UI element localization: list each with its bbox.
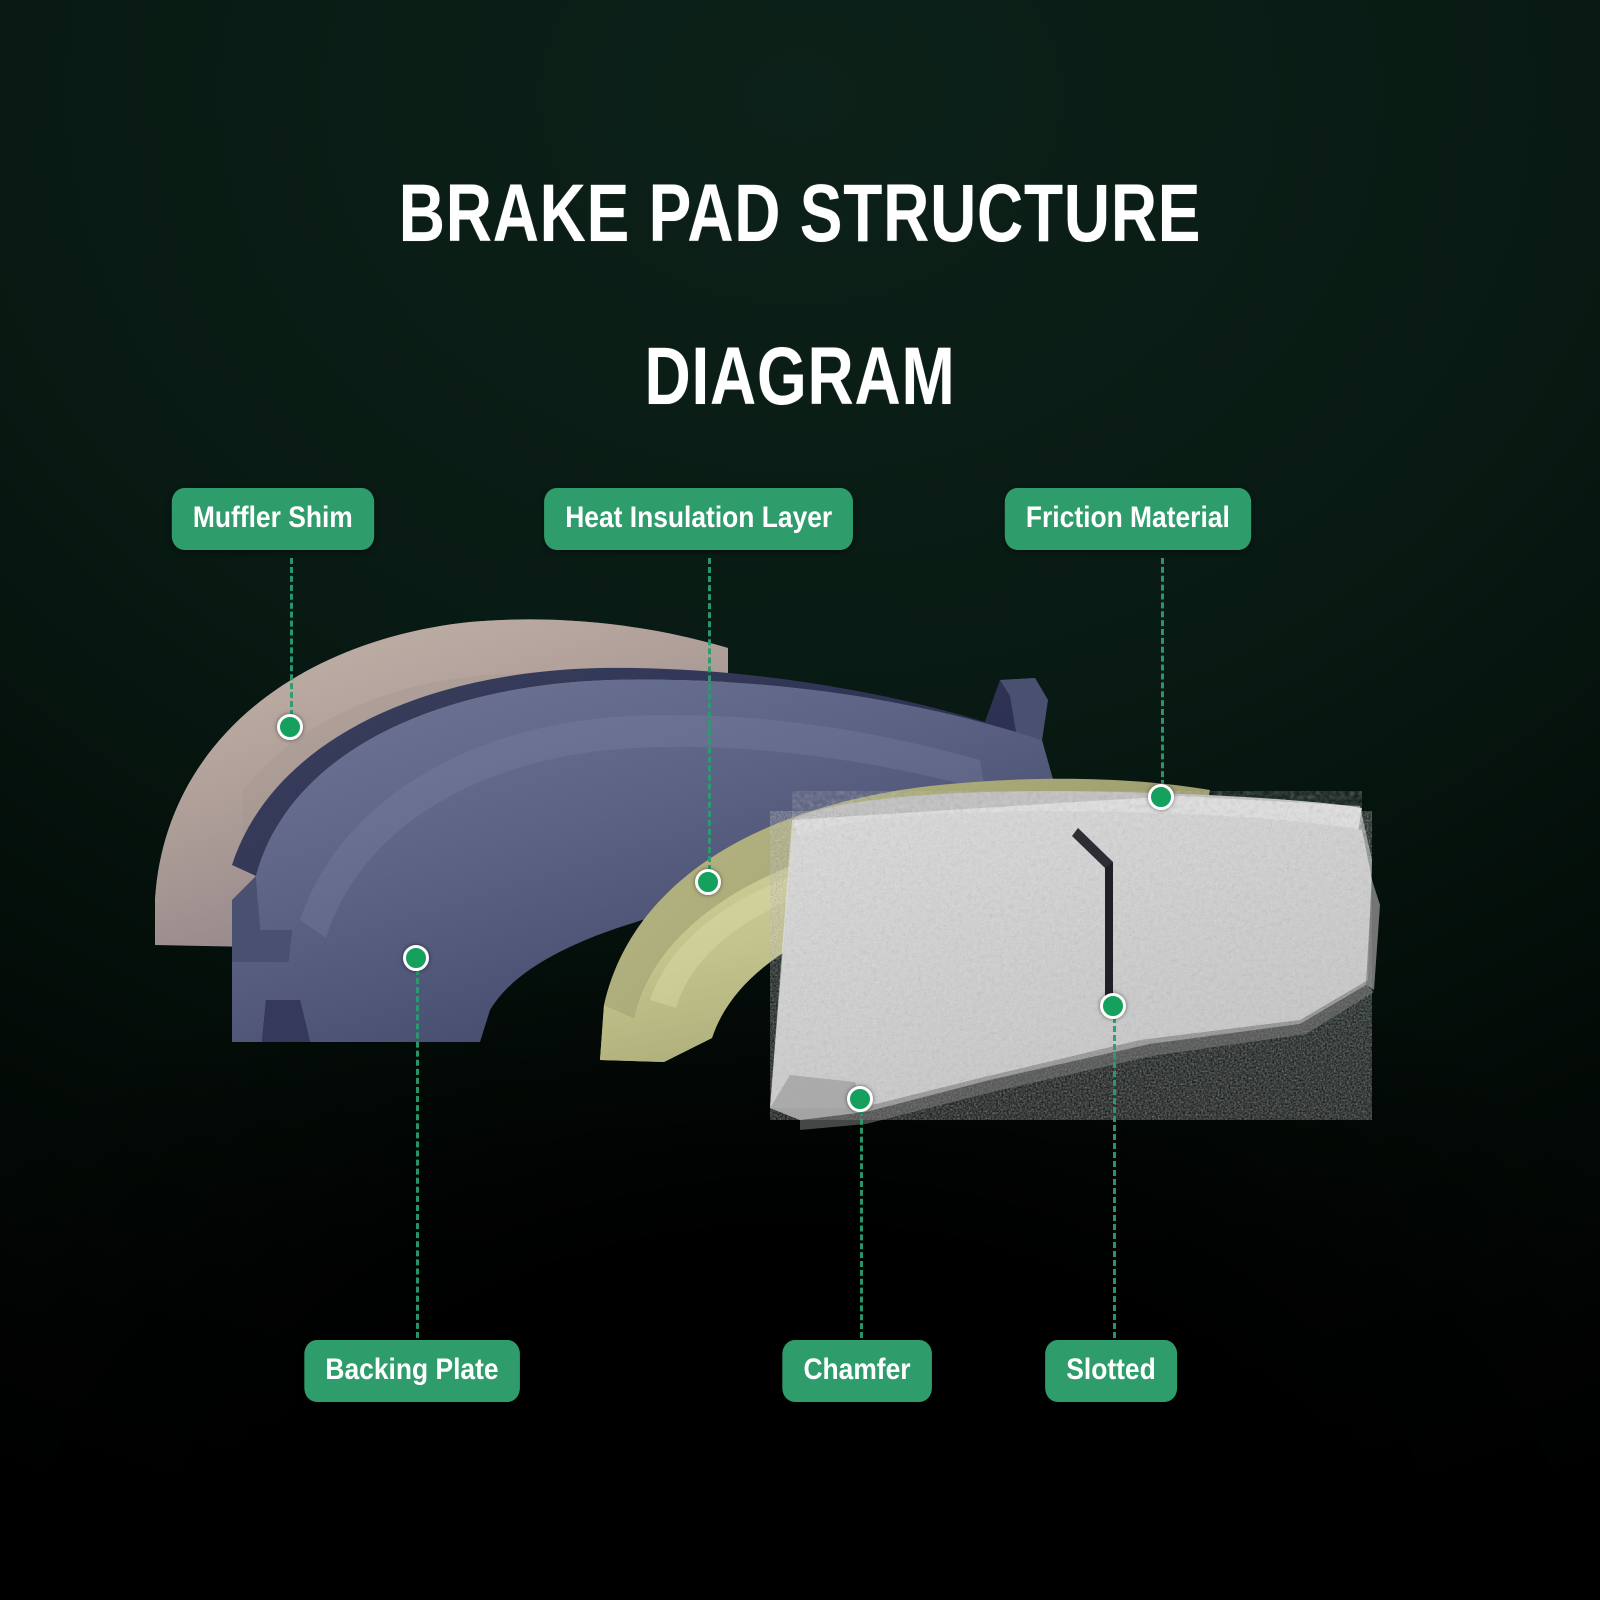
hotspot-dot-friction-material[interactable] [1148, 784, 1174, 810]
label-pill-friction-material[interactable]: Friction Material [1005, 488, 1251, 550]
label-pill-slotted[interactable]: Slotted [1045, 1340, 1177, 1402]
connector-line-backing-plate [416, 969, 419, 1338]
component-heat-insulation-layer [600, 779, 1210, 1062]
component-friction-material [760, 790, 1400, 1130]
diagram-canvas: BRAKE PAD STRUCTURE DIAGRAM [0, 0, 1600, 1600]
connector-line-muffler-shim [290, 558, 293, 716]
title-line-1: BRAKE PAD STRUCTURE [176, 173, 1424, 254]
hotspot-dot-chamfer[interactable] [847, 1086, 873, 1112]
component-backing-plate [232, 668, 1056, 1042]
label-pill-backing-plate[interactable]: Backing Plate [304, 1340, 519, 1402]
hotspot-dot-slotted[interactable] [1100, 993, 1126, 1019]
hotspot-dot-muffler-shim[interactable] [277, 714, 303, 740]
connector-line-heat-insulation [708, 558, 711, 871]
hotspot-dot-heat-insulation[interactable] [695, 869, 721, 895]
connector-line-chamfer [860, 1110, 863, 1338]
connector-line-friction-material [1161, 558, 1164, 786]
connector-line-slotted [1113, 1017, 1116, 1338]
label-pill-muffler-shim[interactable]: Muffler Shim [172, 488, 374, 550]
page-title: BRAKE PAD STRUCTURE DIAGRAM [176, 92, 1424, 498]
label-pill-heat-insulation[interactable]: Heat Insulation Layer [544, 488, 853, 550]
hotspot-dot-backing-plate[interactable] [403, 945, 429, 971]
title-line-2: DIAGRAM [176, 336, 1424, 417]
component-muffler-shim [155, 619, 728, 951]
label-pill-chamfer[interactable]: Chamfer [782, 1340, 931, 1402]
